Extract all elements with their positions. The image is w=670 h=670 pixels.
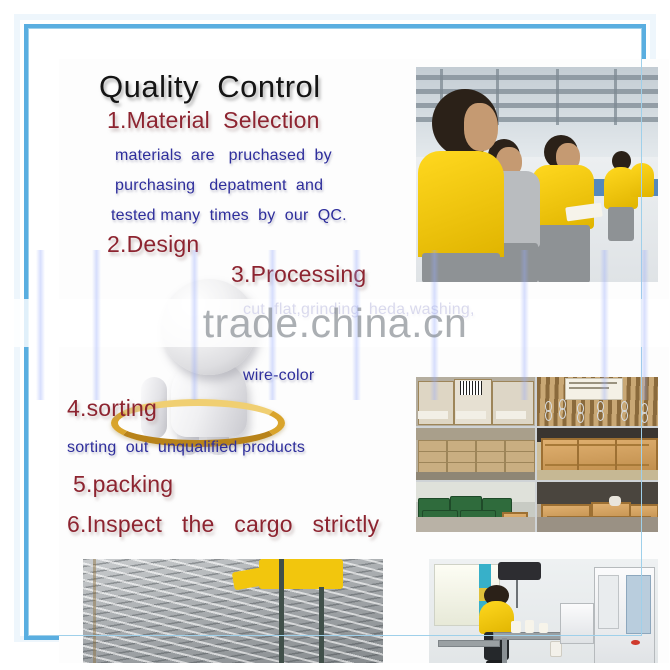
content-plate: Quality Control 1.Material Selection mat… [59,59,669,663]
expanded-metal-mesh-photo [83,559,383,663]
step-1-line-3: tested many times by our QC. [111,207,347,225]
step-3-heading: 3.Processing [231,261,366,288]
watermark-text: trade.china.cn [0,300,670,346]
step-3-line-2: wire-color [243,367,314,385]
step-4-heading: 4.sorting [67,395,157,422]
step-5-heading: 5.packing [73,471,173,498]
inspection-team-photo [416,67,658,282]
step-1-line-2: purchasing depatment and [115,177,323,195]
step-6-heading: 6.Inspect the cargo strictly [67,511,379,538]
laboratory-testing-photo [429,559,658,663]
page-title: Quality Control [99,69,321,105]
step-4-line-1: sorting out unqualified products [67,439,305,457]
step-1-line-1: materials are pruchased by [115,147,332,165]
packing-photo-grid [416,377,658,532]
step-2-heading: 2.Design [107,231,199,258]
product-quality-control-banner: Quality Control 1.Material Selection mat… [0,0,670,670]
step-1-heading: 1.Material Selection [107,107,320,134]
